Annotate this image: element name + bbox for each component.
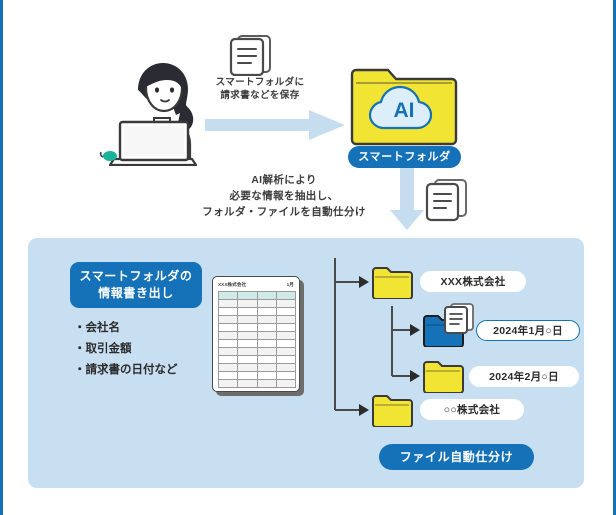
table-row [219, 340, 296, 348]
auto-file-sorting-badge: ファイル自動仕分け [379, 444, 534, 470]
table-row [219, 332, 296, 340]
diagram-canvas: スマートフォルダに 請求書などを保存 AI スマートフォルダ AI解析により 必… [0, 0, 616, 515]
sheet-header: XXX株式会社 1月 [218, 280, 294, 290]
save-caption: スマートフォルダに 請求書などを保存 [196, 76, 324, 102]
table-row [219, 316, 296, 324]
list-item: ・会社名 [74, 318, 224, 339]
table-row [219, 348, 296, 356]
sheet-header-company: XXX株式会社 [218, 282, 246, 288]
document-stack-icon [422, 176, 472, 222]
ai-cloud-folder-icon: AI [348, 62, 460, 148]
extracted-fields-list: ・会社名 ・取引金額 ・請求書の日付など [74, 318, 224, 381]
list-item: ・請求書の日付など [74, 360, 224, 381]
folder-tree: XXX株式会社 2024年1月○日 2024年2月○日 [332, 258, 582, 438]
sheet-table [218, 291, 296, 388]
smart-folder-badge: スマートフォルダ [348, 146, 461, 168]
sheet-header-month: 1月 [287, 282, 294, 288]
table-row [219, 324, 296, 332]
sheet-page: XXX株式会社 1月 [212, 276, 300, 392]
ai-analysis-caption: AI解析により 必要な情報を抽出し、 フォルダ・ファイルを自動仕分け [168, 172, 400, 220]
table-row [219, 356, 296, 364]
list-item: ・取引金額 [74, 339, 224, 360]
person-at-laptop-icon [96, 56, 208, 166]
ai-cloud-label: AI [394, 99, 415, 122]
folder-yellow-icon[interactable] [422, 360, 464, 393]
table-row [219, 300, 296, 308]
table-row [219, 364, 296, 372]
tree-label-date-feb[interactable]: 2024年2月○日 [469, 366, 579, 387]
tree-label-date-jan[interactable]: 2024年1月○日 [476, 320, 580, 341]
table-row [219, 380, 296, 388]
folder-yellow-icon[interactable] [371, 394, 413, 427]
folder-yellow-icon[interactable] [371, 266, 413, 299]
arrow-down-icon [390, 168, 424, 230]
table-row [219, 372, 296, 380]
invoice-spreadsheet-icon: XXX株式会社 1月 [212, 276, 304, 396]
frame-border-left [0, 0, 3, 515]
table-row [219, 292, 296, 300]
tree-label-company-xxx[interactable]: XXX株式会社 [420, 271, 526, 292]
document-stack-icon [442, 302, 476, 334]
extract-info-badge: スマートフォルダの 情報書き出し [70, 262, 202, 308]
arrow-right-icon [205, 110, 345, 140]
tree-label-company-oo[interactable]: ○○株式会社 [420, 399, 524, 420]
document-stack-icon [226, 32, 276, 76]
table-row [219, 308, 296, 316]
